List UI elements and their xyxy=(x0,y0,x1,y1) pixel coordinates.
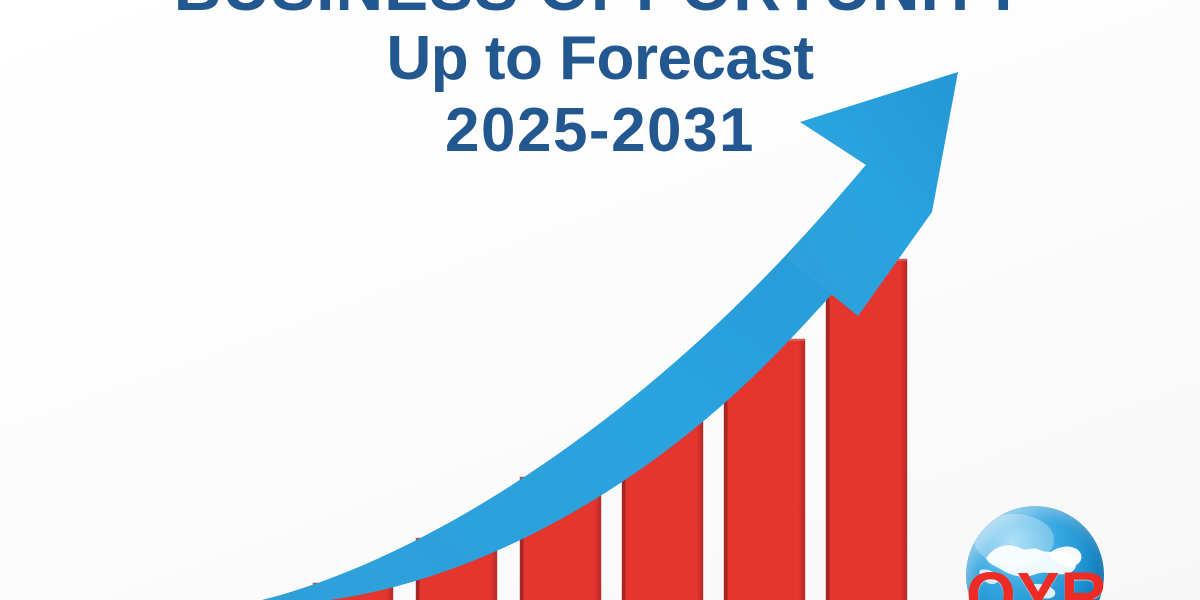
logo-text: QYR xyxy=(966,558,1104,600)
bar-2025 xyxy=(313,583,393,600)
bar-2027 xyxy=(520,477,601,600)
forecast-banner: BUSINESS OPPORTUNITY Up to Forecast 2025… xyxy=(0,0,1200,600)
bar-2030 xyxy=(826,259,907,600)
bar-2029 xyxy=(724,339,805,600)
logo[interactable]: QYR xyxy=(966,506,1108,600)
bar-2026 xyxy=(416,538,497,600)
bar-2028 xyxy=(622,410,703,600)
